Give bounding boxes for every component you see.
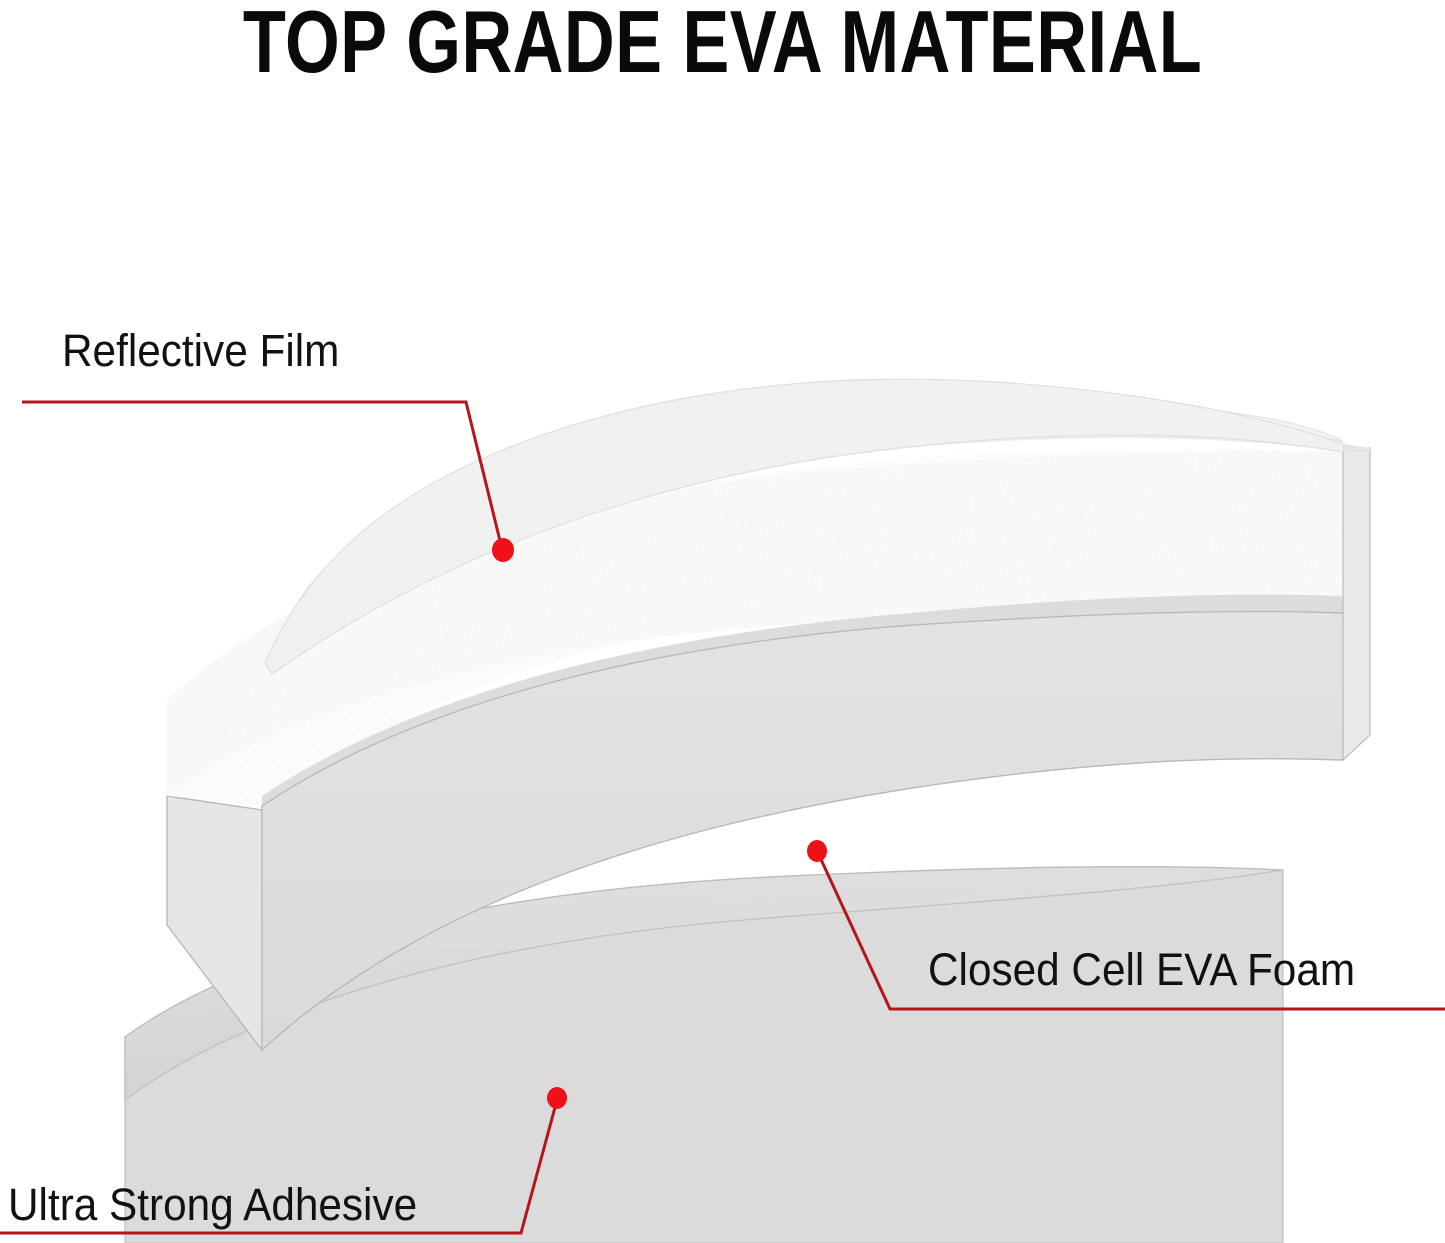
reflective-film-right-edge <box>1343 444 1370 452</box>
ultra-adhesive-marker-dot <box>547 1087 567 1109</box>
label-closed-cell-eva-foam: Closed Cell EVA Foam <box>928 945 1355 995</box>
label-reflective-film: Reflective Film <box>62 326 339 376</box>
label-ultra-strong-adhesive: Ultra Strong Adhesive <box>8 1180 417 1230</box>
reflective-film-marker-dot <box>492 538 514 562</box>
foam-right-end-cap <box>1343 448 1370 760</box>
product-material-infographic: TOP GRADE EVA MATERIAL <box>0 0 1445 1243</box>
closed-cell-marker-dot <box>807 840 827 862</box>
eva-material-cross-section-illustration <box>0 0 1445 1243</box>
